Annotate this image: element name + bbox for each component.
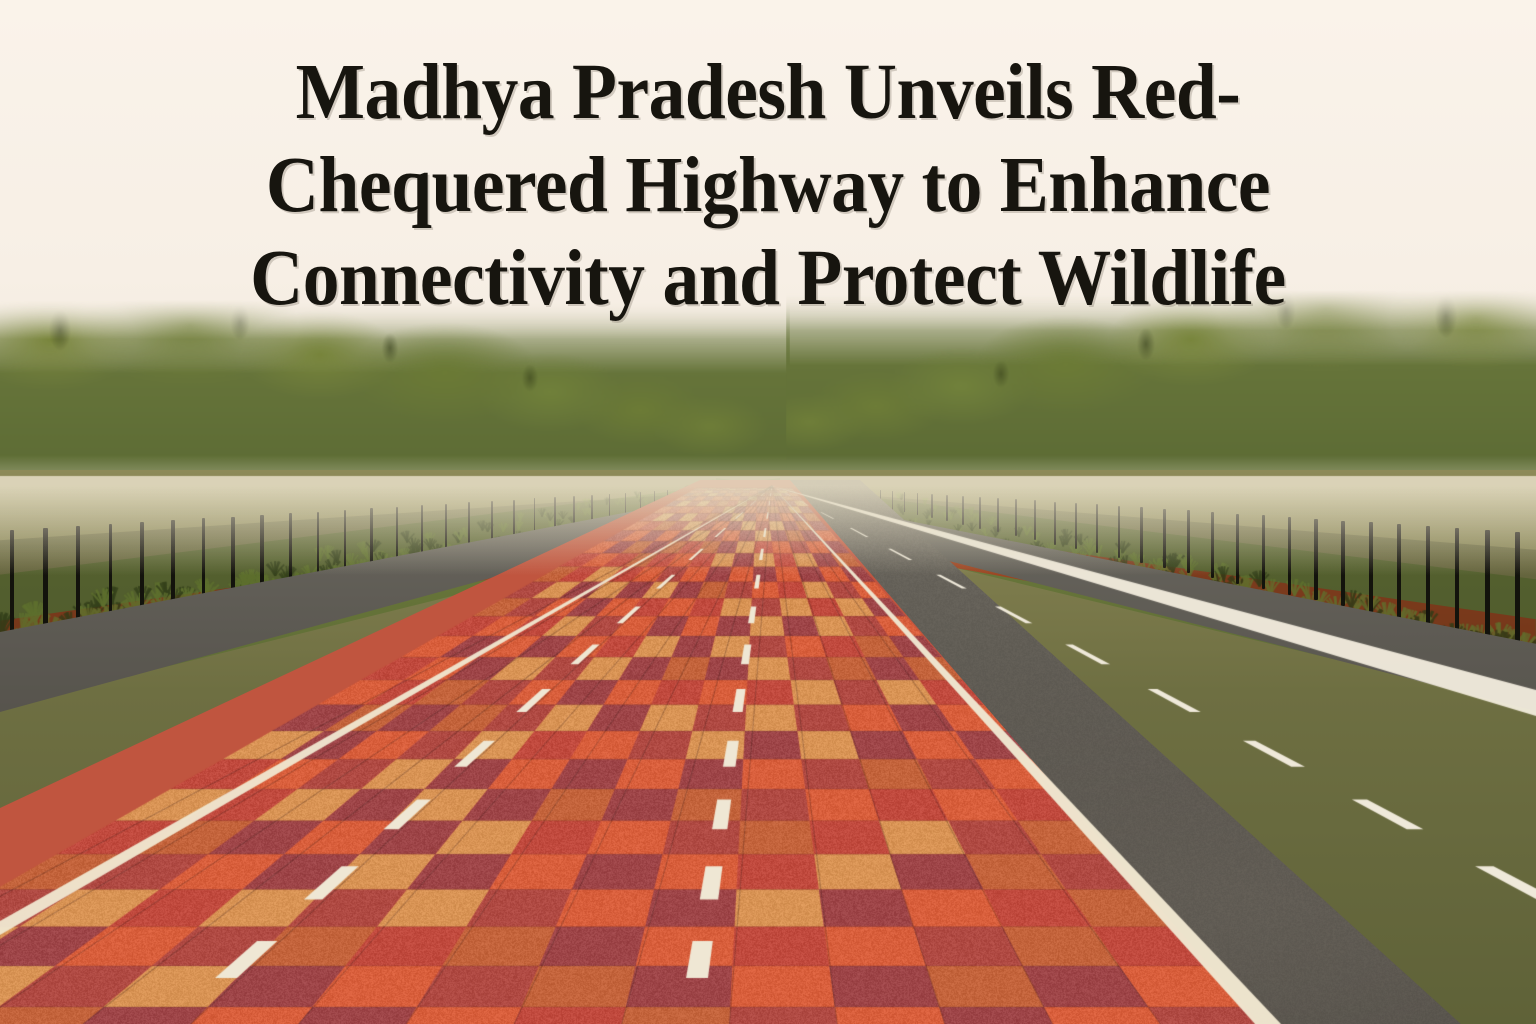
road-markings xyxy=(0,470,1536,1024)
highway-headline-card: Madhya Pradesh Unveils Red- Chequered Hi… xyxy=(0,0,1536,1024)
page-title: Madhya Pradesh Unveils Red- Chequered Hi… xyxy=(54,46,1482,325)
